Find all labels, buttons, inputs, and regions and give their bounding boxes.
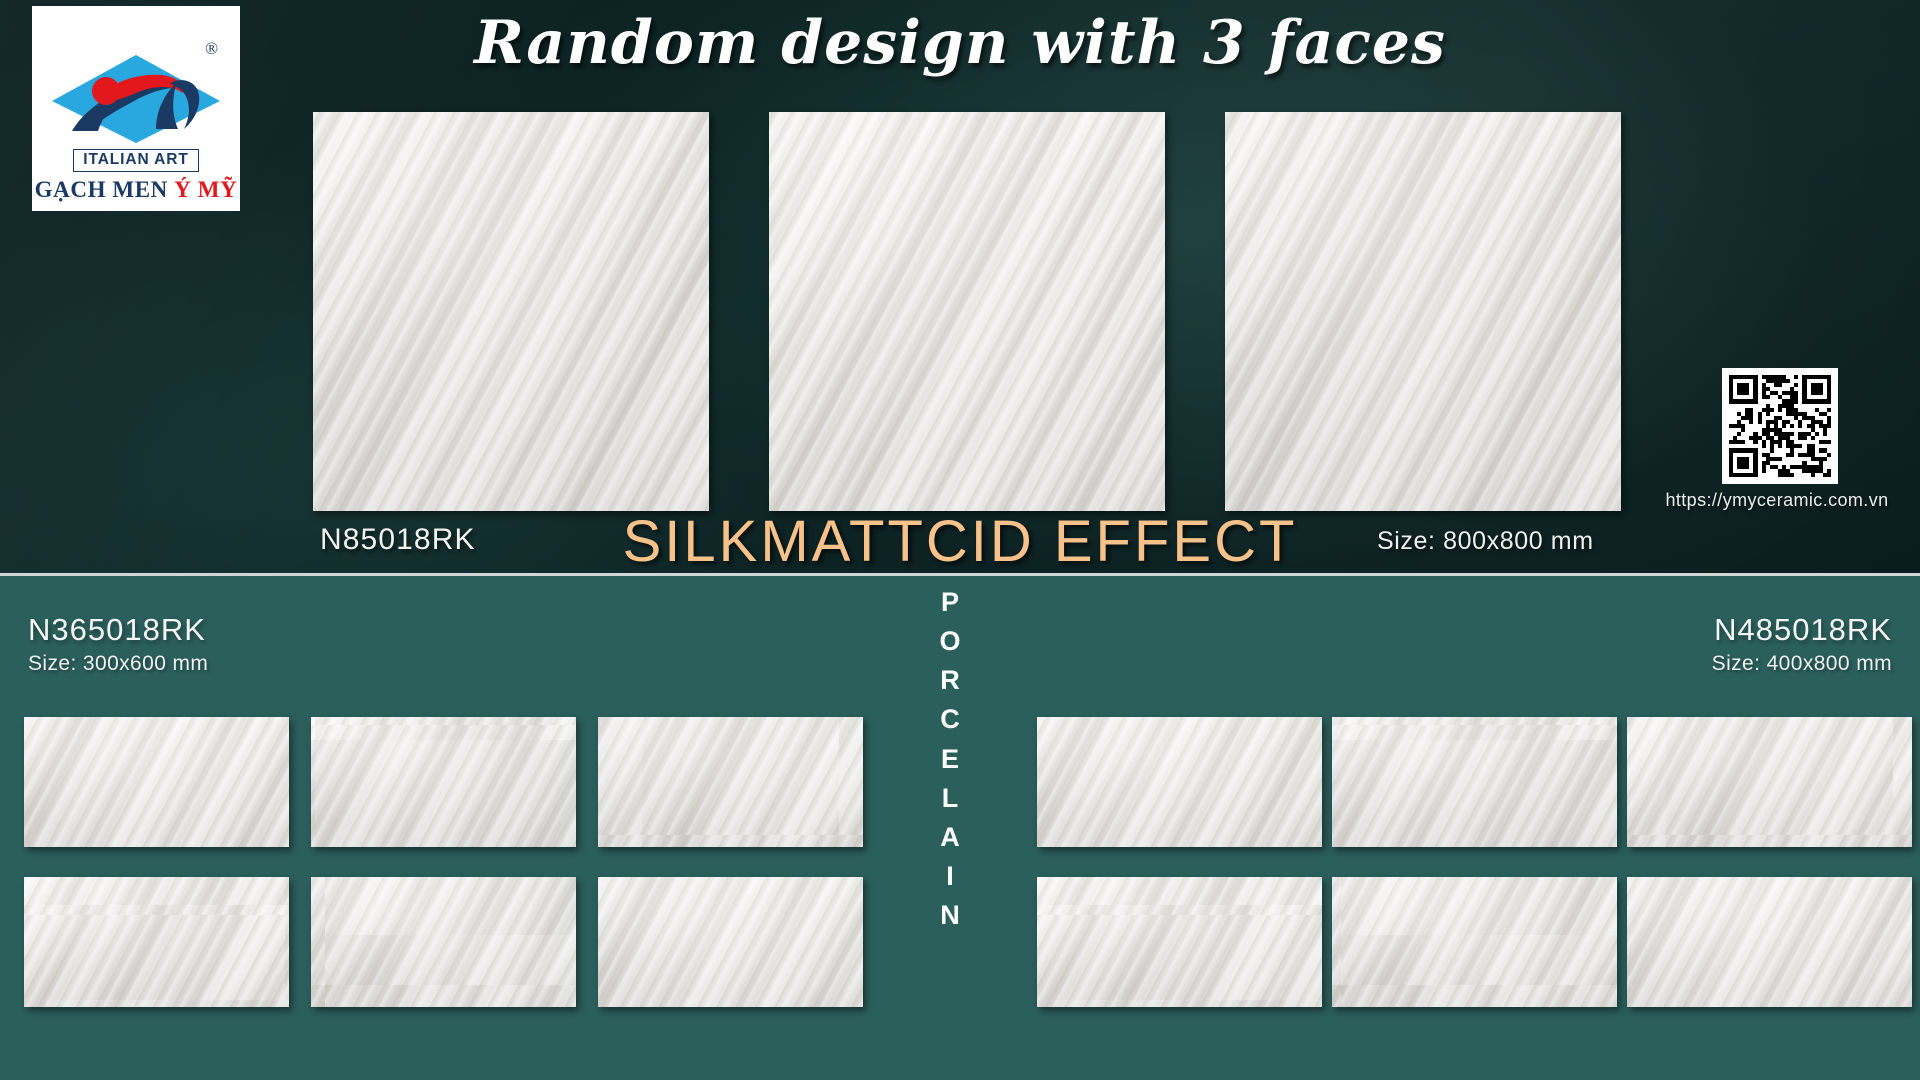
right-group-size: Size: 400x800 mm <box>1712 652 1892 676</box>
tile-sample-left-4[interactable] <box>24 877 289 1007</box>
tile-surface <box>24 877 289 1007</box>
tile-surface <box>1627 877 1912 1007</box>
logo-italian-art-label: ITALIAN ART <box>73 149 198 172</box>
porcelain-letter-1: O <box>939 622 960 661</box>
tile-sample-left-5[interactable] <box>311 877 576 1007</box>
tile-surface <box>769 112 1165 511</box>
logo-brand-name-dark: GẠCH MEN <box>35 177 175 202</box>
tile-surface <box>311 877 576 1007</box>
tile-surface <box>598 717 863 847</box>
porcelain-letter-5: L <box>942 779 959 818</box>
porcelain-letter-8: N <box>940 896 960 935</box>
large-tile-gallery <box>313 112 1621 511</box>
ymy-logo-icon: ® <box>48 39 224 147</box>
tile-surface <box>598 877 863 1007</box>
qr-code-icon[interactable] <box>1722 368 1838 484</box>
brand-logo[interactable]: ® ITALIAN ART GẠCH MEN Ý MỸ <box>32 6 240 211</box>
tile-surface <box>24 717 289 847</box>
registered-mark-icon: ® <box>205 39 218 59</box>
tile-sample-large-1[interactable] <box>313 112 709 511</box>
porcelain-letter-7: I <box>946 857 954 896</box>
tile-sample-large-3[interactable] <box>1225 112 1621 511</box>
tile-sample-right-1[interactable] <box>1037 717 1322 847</box>
tile-surface <box>1332 877 1617 1007</box>
porcelain-letter-2: R <box>940 661 960 700</box>
poster-root: Random design with 3 faces N85018RK Size… <box>0 0 1920 1080</box>
left-group-code: N365018RK <box>28 612 206 648</box>
porcelain-letter-0: P <box>941 583 959 622</box>
porcelain-letter-6: A <box>940 818 960 857</box>
tile-sample-left-2[interactable] <box>311 717 576 847</box>
logo-brand-name: GẠCH MEN Ý MỸ <box>35 177 238 203</box>
tile-surface <box>1332 717 1617 847</box>
tile-surface <box>1225 112 1621 511</box>
page-title: Random design with 3 faces <box>0 8 1920 78</box>
qr-modules <box>1729 375 1831 477</box>
tile-sample-right-5[interactable] <box>1332 877 1617 1007</box>
right-tile-grid <box>1037 717 1912 1007</box>
effect-title: SILKMATTCID EFFECT <box>0 508 1920 573</box>
tile-sample-right-6[interactable] <box>1627 877 1912 1007</box>
top-showcase-panel: Random design with 3 faces N85018RK Size… <box>0 0 1920 573</box>
tile-surface <box>311 717 576 847</box>
tile-sample-left-6[interactable] <box>598 877 863 1007</box>
porcelain-letter-4: E <box>941 740 959 779</box>
tile-sample-left-1[interactable] <box>24 717 289 847</box>
qr-code-block[interactable] <box>1722 368 1838 484</box>
tile-sample-large-2[interactable] <box>769 112 1165 511</box>
tile-surface <box>1037 717 1322 847</box>
tile-surface <box>1037 877 1322 1007</box>
left-group-size: Size: 300x600 mm <box>28 652 208 676</box>
tile-surface <box>313 112 709 511</box>
tile-sample-right-2[interactable] <box>1332 717 1617 847</box>
tile-surface <box>1627 717 1912 847</box>
left-tile-grid <box>24 717 863 1007</box>
tile-sample-right-4[interactable] <box>1037 877 1322 1007</box>
right-group-code: N485018RK <box>1714 612 1892 648</box>
porcelain-letter-3: C <box>940 700 960 739</box>
tile-sample-right-3[interactable] <box>1627 717 1912 847</box>
logo-brand-name-red: Ý MỸ <box>174 177 237 202</box>
porcelain-vertical-label: PORCELAIN <box>915 583 985 935</box>
tile-sample-left-3[interactable] <box>598 717 863 847</box>
